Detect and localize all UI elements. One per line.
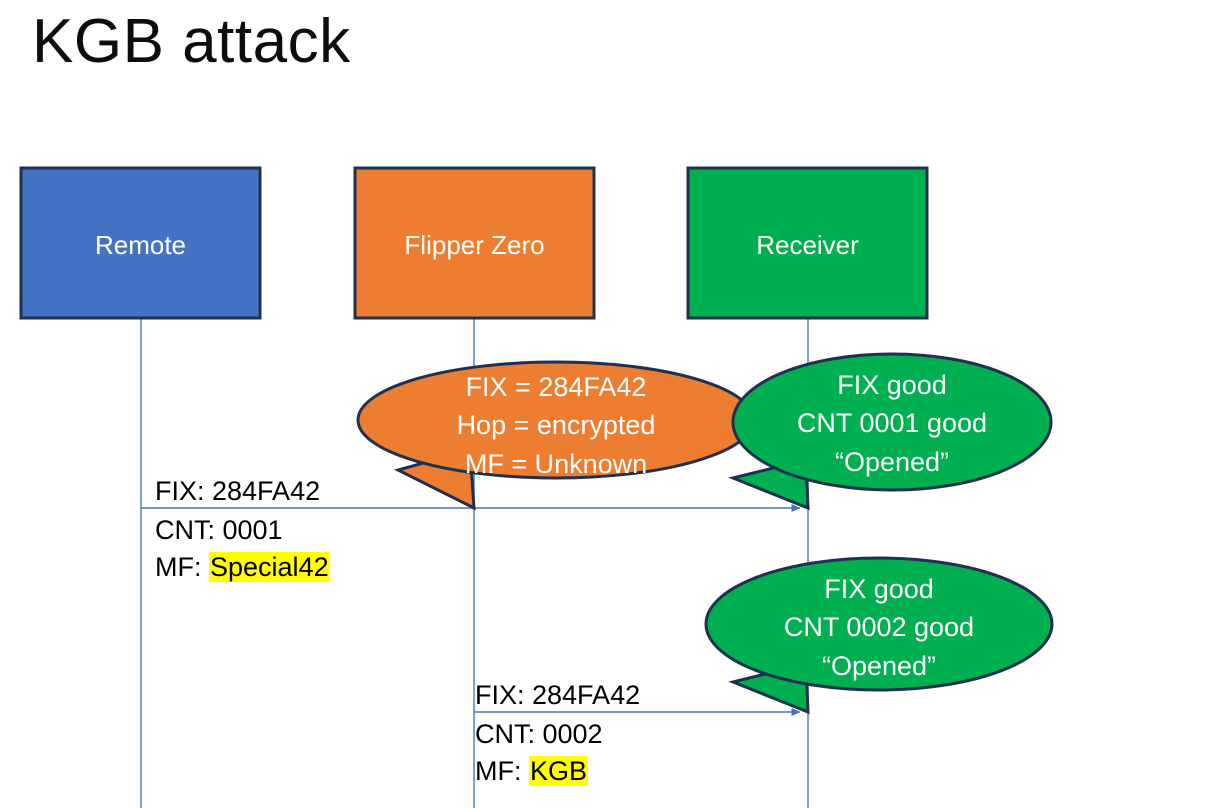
callout-receiver-1-line-2: CNT 0001 good [733, 404, 1051, 442]
message-1-mf-prefix: MF: [155, 552, 209, 582]
actor-label-remote: Remote [21, 230, 260, 261]
message-2-below-label: CNT: 0002 MF: KGB [475, 716, 603, 791]
callout-flipper-line-3: MF = Unknown [358, 445, 754, 483]
message-2-mf-value: KGB [529, 756, 588, 786]
callout-receiver-1-text: FIX good CNT 0001 good “Opened” [733, 366, 1051, 481]
message-2-cnt-prefix: CNT: [475, 719, 543, 749]
message-1-mf-value: Special42 [209, 552, 330, 582]
message-1-cnt-line: CNT: 0001 [155, 512, 330, 549]
message-1-cnt-prefix: CNT: [155, 515, 223, 545]
message-2-above-label: FIX: 284FA42 [475, 677, 640, 714]
callout-receiver-2-line-1: FIX good [720, 570, 1038, 608]
callout-receiver-2-text: FIX good CNT 0002 good “Opened” [720, 570, 1038, 685]
message-1-mf-line: MF: Special42 [155, 549, 330, 586]
callout-receiver-1-line-3: “Opened” [733, 443, 1051, 481]
slide-canvas: KGB attack [0, 0, 1218, 808]
message-1-below-label: CNT: 0001 MF: Special42 [155, 512, 330, 587]
callout-flipper-line-2: Hop = encrypted [358, 406, 754, 444]
message-2-cnt-value: 0002 [543, 719, 603, 749]
callout-flipper-line-1: FIX = 284FA42 [358, 368, 754, 406]
message-1-above-label: FIX: 284FA42 [155, 473, 320, 510]
callout-receiver-2-line-2: CNT 0002 good [720, 608, 1038, 646]
callout-receiver-1-line-1: FIX good [733, 366, 1051, 404]
actor-label-flipper: Flipper Zero [355, 230, 594, 261]
message-2-mf-prefix: MF: [475, 756, 529, 786]
actor-label-receiver: Receiver [688, 230, 927, 261]
callout-flipper-text: FIX = 284FA42 Hop = encrypted MF = Unkno… [358, 368, 754, 483]
message-1-cnt-value: 0001 [223, 515, 283, 545]
callout-receiver-2-line-3: “Opened” [720, 647, 1038, 685]
message-2-mf-line: MF: KGB [475, 753, 603, 790]
message-2-cnt-line: CNT: 0002 [475, 716, 603, 753]
